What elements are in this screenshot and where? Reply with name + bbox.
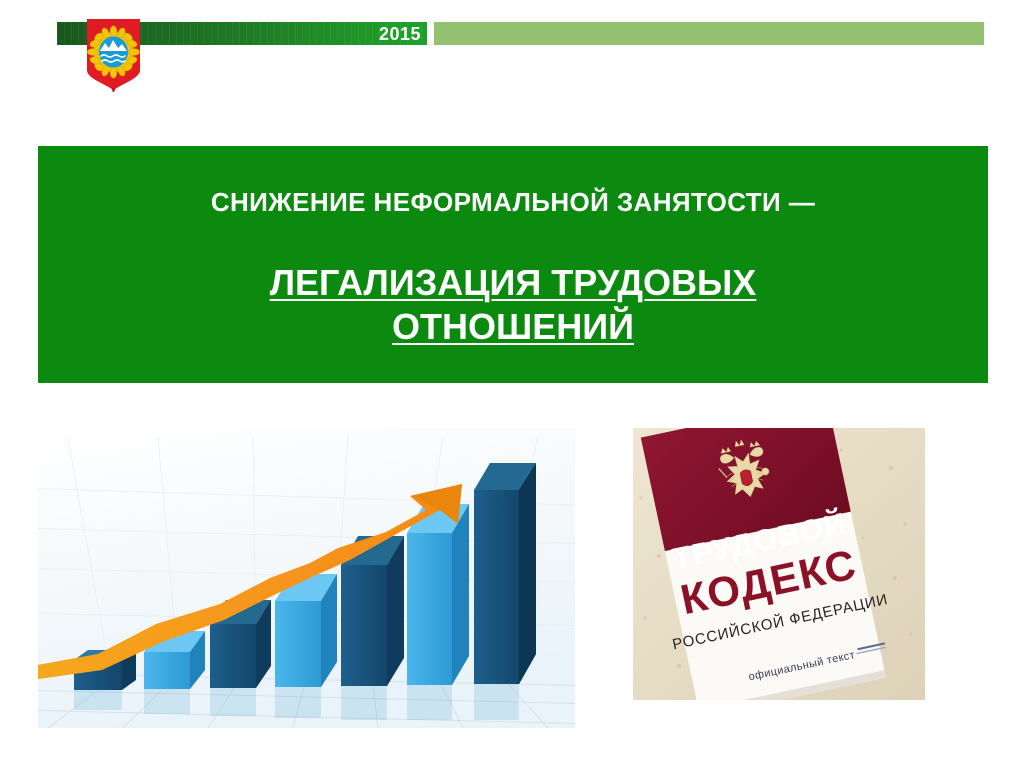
title-line-primary: СНИЖЕНИЕ НЕФОРМАЛЬНОЙ ЗАНЯТОСТИ — [211, 188, 815, 217]
slide-canvas: 2015 [0, 0, 1024, 767]
labor-code-book-image: ТРУДОВОЙ КОДЕКС РОССИЙСКОЙ ФЕДЕРАЦИИ офи… [633, 428, 925, 700]
header-year-label: 2015 [379, 25, 421, 43]
title-line-secondary: ЛЕГАЛИЗАЦИЯ ТРУДОВЫХ ОТНОШЕНИЙ [193, 261, 833, 349]
title-banner: СНИЖЕНИЕ НЕФОРМАЛЬНОЙ ЗАНЯТОСТИ — ЛЕГАЛИ… [38, 146, 988, 383]
coat-of-arms-icon [86, 18, 141, 92]
header-band-light [434, 22, 984, 45]
growth-chart-image [38, 428, 575, 728]
